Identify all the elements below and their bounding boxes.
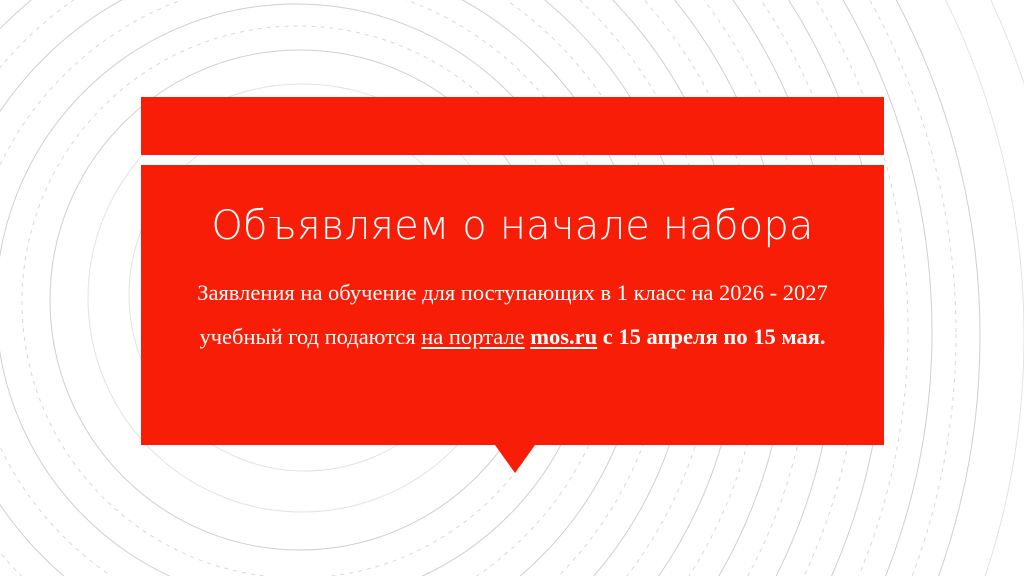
- callout-top-bar: [141, 97, 884, 155]
- announcement-body-text: Заявления на обучение для поступающих в …: [169, 271, 856, 359]
- callout-content: Объявляем о начале набора Заявления на о…: [141, 165, 884, 445]
- announcement-callout: Объявляем о начале набора Заявления на о…: [141, 97, 884, 445]
- portal-link[interactable]: на портале: [421, 324, 524, 349]
- callout-tail-pointer: [495, 445, 535, 473]
- body-line-1: Заявления на обучение для поступающих в …: [197, 280, 713, 305]
- slide-canvas: Объявляем о начале набора Заявления на о…: [0, 0, 1024, 576]
- body-deadline-text: с 15 апреля по 15 мая.: [597, 324, 825, 349]
- mosru-link[interactable]: mos.ru: [530, 324, 597, 349]
- announcement-headline: Объявляем о начале набора: [169, 203, 856, 249]
